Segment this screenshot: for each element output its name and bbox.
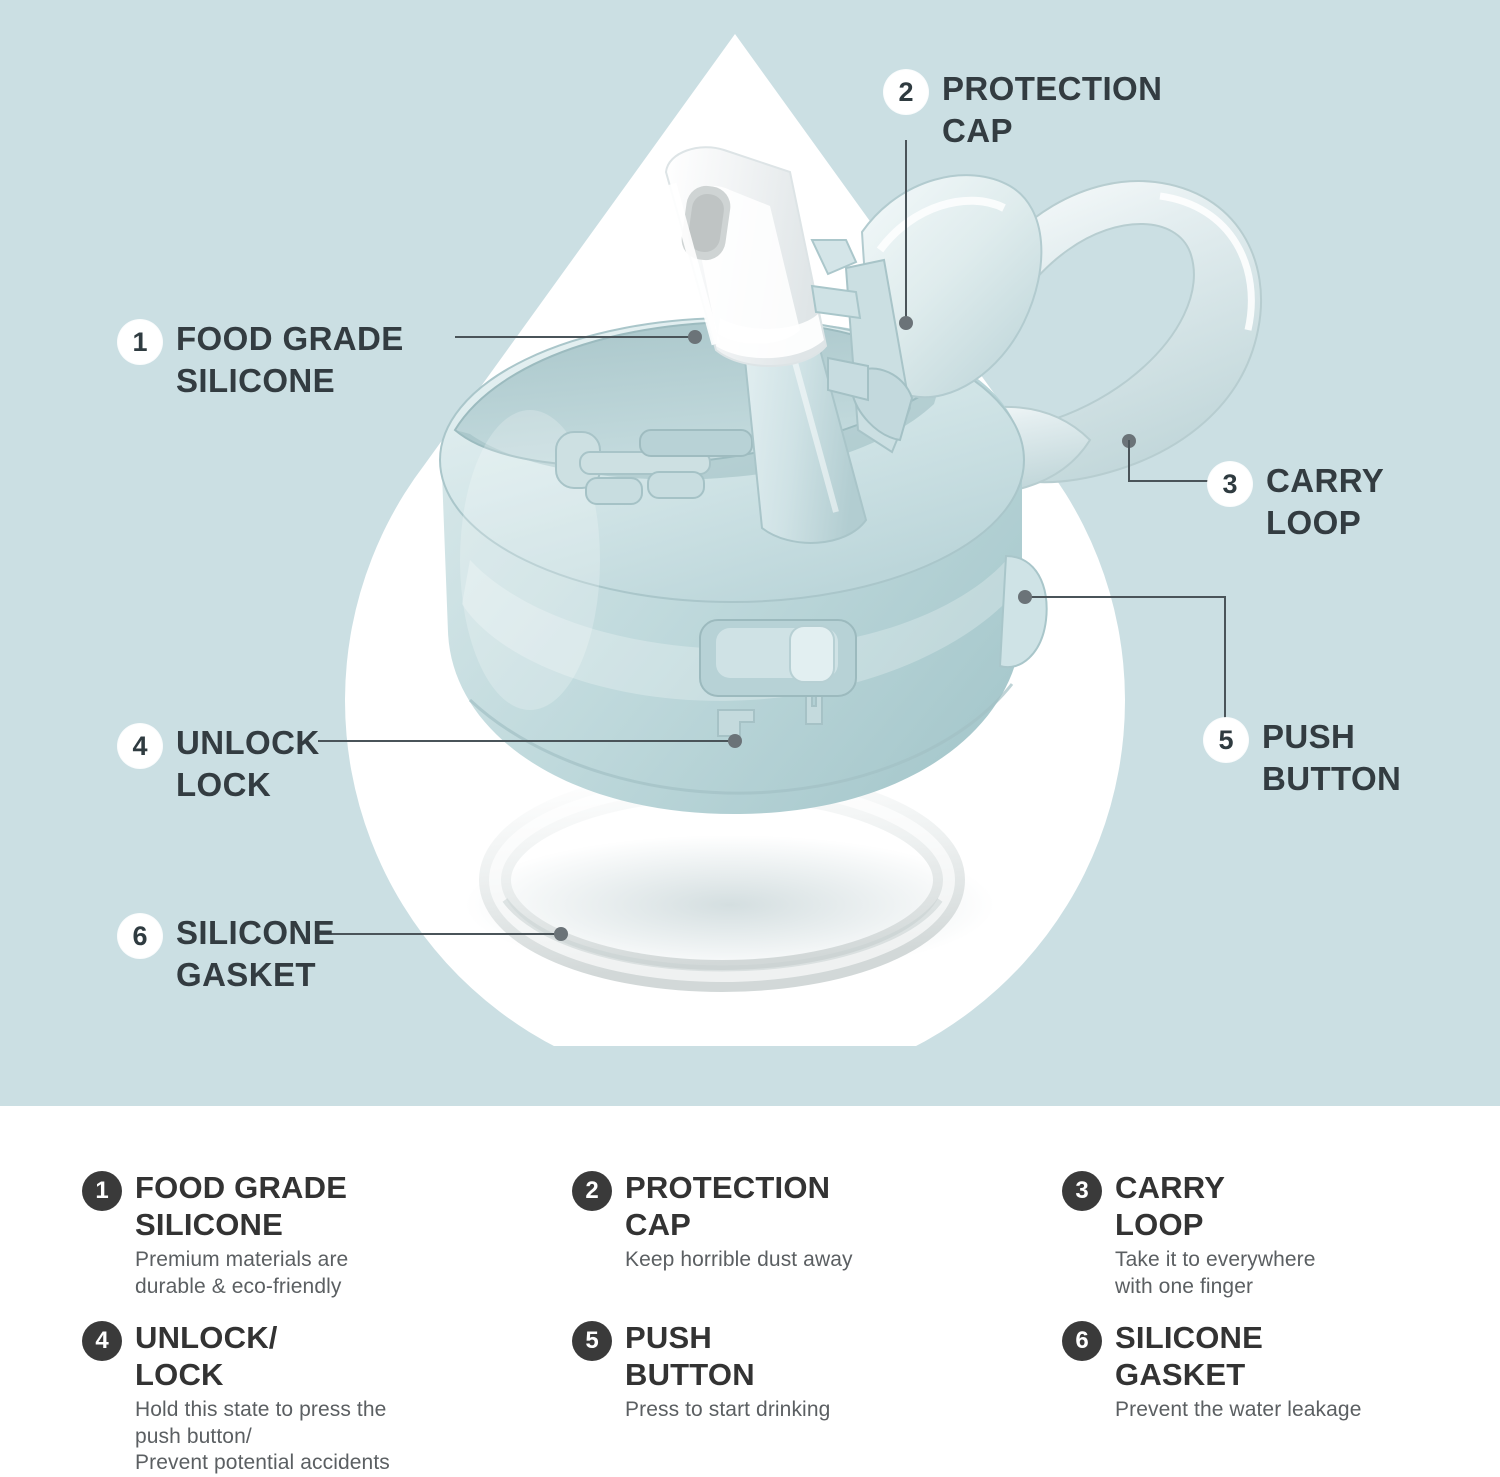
legend-body-3: CARRY LOOP Take it to everywhere with on… [1115, 1168, 1316, 1300]
legend-title-6: SILICONE GASKET [1115, 1320, 1361, 1393]
leader-line-3 [1128, 480, 1210, 482]
legend-body-6: SILICONE GASKET Prevent the water leakag… [1115, 1318, 1361, 1424]
leader-dot-2 [899, 316, 913, 330]
legend-body-5: PUSH BUTTON Press to start drinking [625, 1318, 830, 1424]
legend-item-3[interactable]: 3 CARRY LOOP Take it to everywhere with … [1062, 1168, 1500, 1318]
callout-label-2: PROTECTION CAP [942, 68, 1162, 152]
legend-title-4: UNLOCK/ LOCK [135, 1320, 390, 1393]
leader-line-1 [455, 336, 695, 338]
leader-dot-6 [554, 927, 568, 941]
leader-line-3b [1128, 440, 1130, 482]
legend-body-2: PROTECTION CAP Keep horrible dust away [625, 1168, 853, 1274]
callout-3[interactable]: 3 CARRY LOOP [1208, 460, 1384, 544]
callout-1[interactable]: 1 FOOD GRADE SILICONE [118, 318, 404, 402]
leader-line-5b [1224, 596, 1226, 722]
leader-line-5 [1030, 596, 1226, 598]
callout-6[interactable]: 6 SILICONE GASKET [118, 912, 335, 996]
legend-desc-4: Hold this state to press the push button… [135, 1397, 390, 1476]
legend-number-5: 5 [572, 1321, 612, 1361]
callout-number-4: 4 [118, 724, 162, 768]
legend-title-2: PROTECTION CAP [625, 1170, 853, 1243]
callout-number-2: 2 [884, 70, 928, 114]
legend-number-6: 6 [1062, 1321, 1102, 1361]
legend-title-1: FOOD GRADE SILICONE [135, 1170, 348, 1243]
callout-label-4: UNLOCK LOCK [176, 722, 320, 806]
legend-title-3: CARRY LOOP [1115, 1170, 1316, 1243]
legend-item-1[interactable]: 1 FOOD GRADE SILICONE Premium materials … [82, 1168, 572, 1318]
callout-number-3: 3 [1208, 462, 1252, 506]
callout-number-1: 1 [118, 320, 162, 364]
callout-label-3: CARRY LOOP [1266, 460, 1384, 544]
callout-2[interactable]: 2 PROTECTION CAP [884, 68, 1162, 152]
legend-body-1: FOOD GRADE SILICONE Premium materials ar… [135, 1168, 348, 1300]
legend-desc-3: Take it to everywhere with one finger [1115, 1247, 1316, 1300]
leader-line-4 [318, 740, 736, 742]
feature-legend: 1 FOOD GRADE SILICONE Premium materials … [0, 1106, 1500, 1471]
legend-item-2[interactable]: 2 PROTECTION CAP Keep horrible dust away [572, 1168, 1062, 1318]
legend-item-6[interactable]: 6 SILICONE GASKET Prevent the water leak… [1062, 1318, 1500, 1477]
legend-desc-6: Prevent the water leakage [1115, 1397, 1361, 1423]
hero-panel: 1 FOOD GRADE SILICONE 2 PROTECTION CAP 3… [0, 0, 1500, 1106]
legend-number-4: 4 [82, 1321, 122, 1361]
legend-desc-2: Keep horrible dust away [625, 1247, 853, 1273]
leader-dot-1 [688, 330, 702, 344]
leader-line-6 [318, 933, 562, 935]
callout-number-5: 5 [1204, 718, 1248, 762]
leader-dot-5 [1018, 590, 1032, 604]
legend-title-5: PUSH BUTTON [625, 1320, 830, 1393]
legend-number-1: 1 [82, 1171, 122, 1211]
callout-label-5: PUSH BUTTON [1262, 716, 1401, 800]
legend-number-3: 3 [1062, 1171, 1102, 1211]
callout-4[interactable]: 4 UNLOCK LOCK [118, 722, 320, 806]
legend-number-2: 2 [572, 1171, 612, 1211]
legend-item-5[interactable]: 5 PUSH BUTTON Press to start drinking [572, 1318, 1062, 1477]
callout-number-6: 6 [118, 914, 162, 958]
callout-label-1: FOOD GRADE SILICONE [176, 318, 404, 402]
callout-5[interactable]: 5 PUSH BUTTON [1204, 716, 1401, 800]
legend-item-4[interactable]: 4 UNLOCK/ LOCK Hold this state to press … [82, 1318, 572, 1477]
leader-line-2 [905, 140, 907, 322]
legend-desc-5: Press to start drinking [625, 1397, 830, 1423]
legend-body-4: UNLOCK/ LOCK Hold this state to press th… [135, 1318, 390, 1477]
callout-label-6: SILICONE GASKET [176, 912, 335, 996]
leader-dot-4 [728, 734, 742, 748]
legend-desc-1: Premium materials are durable & eco-frie… [135, 1247, 348, 1300]
